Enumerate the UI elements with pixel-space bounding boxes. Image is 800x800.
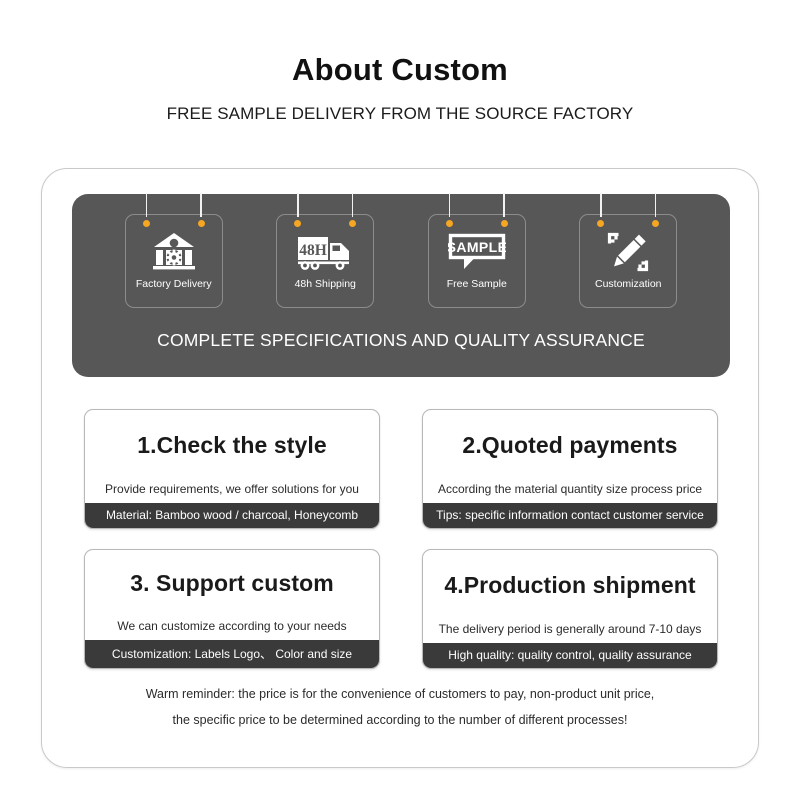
hanger-dot-right-icon [501,220,508,227]
step-footer-bar: Tips: specific information contact custo… [423,503,717,528]
sample-speech-bubble-icon: SAMPLE [448,229,506,275]
feature-badge-free-sample[interactable]: SAMPLE Free Sample [428,214,526,308]
step-card-3[interactable]: 3. Support custom We can customize accor… [84,549,380,669]
step-description: The delivery period is generally around … [423,622,717,643]
hanger-dot-right-icon [652,220,659,227]
step-footer-bar: Customization: Labels Logo、 Color and si… [85,640,379,668]
hanger-dot-left-icon [597,220,604,227]
step-description: Provide requirements, we offer solutions… [85,482,379,503]
hanger-dot-left-icon [446,220,453,227]
content-container: Factory Delivery 48H [41,168,759,768]
hanger-dot-right-icon [349,220,356,227]
feature-badge-label: Free Sample [447,279,507,291]
step-footer-bar: High quality: quality control, quality a… [423,643,717,668]
step-footer-bar: Material: Bamboo wood / charcoal, Honeyc… [85,503,379,528]
hanger-dot-left-icon [143,220,150,227]
feature-badge-factory-delivery[interactable]: Factory Delivery [125,214,223,308]
hanger-dot-right-icon [198,220,205,227]
step-card-2[interactable]: 2.Quoted payments According the material… [422,409,718,529]
warm-reminder-note: Warm reminder: the price is for the conv… [42,682,758,733]
step-card-grid: 1.Check the style Provide requirements, … [84,409,718,669]
svg-text:48H: 48H [299,242,327,259]
feature-badge-48h-shipping[interactable]: 48H 48h Shipping [276,214,374,308]
page-title: About Custom [0,52,800,88]
step-description: We can customize according to your needs [85,619,379,640]
note-line-2: the specific price to be determined acco… [42,708,758,734]
banner-caption: COMPLETE SPECIFICATIONS AND QUALITY ASSU… [72,330,730,351]
svg-text:SAMPLE: SAMPLE [448,239,506,255]
step-title: 2.Quoted payments [423,410,717,482]
step-title: 3. Support custom [85,550,379,619]
step-title: 4.Production shipment [423,550,717,622]
step-card-1[interactable]: 1.Check the style Provide requirements, … [84,409,380,529]
feature-badge-label: 48h Shipping [295,279,356,291]
feature-badge-list: Factory Delivery 48H [72,194,730,314]
step-description: According the material quantity size pro… [423,482,717,503]
note-line-1: Warm reminder: the price is for the conv… [42,682,758,708]
pencil-ruler-icon [605,229,651,275]
delivery-truck-48h-icon: 48H [297,229,353,275]
page-subtitle: FREE SAMPLE DELIVERY FROM THE SOURCE FAC… [0,104,800,124]
page-header: About Custom FREE SAMPLE DELIVERY FROM T… [0,0,800,124]
step-title: 1.Check the style [85,410,379,482]
feature-badge-label: Factory Delivery [136,279,212,291]
feature-badge-label: Customization [595,279,662,291]
feature-badge-customization[interactable]: Customization [579,214,677,308]
about-custom-page: About Custom FREE SAMPLE DELIVERY FROM T… [0,0,800,800]
factory-building-icon [151,229,197,275]
hanger-dot-left-icon [294,220,301,227]
features-banner: Factory Delivery 48H [72,194,730,377]
step-card-4[interactable]: 4.Production shipment The delivery perio… [422,549,718,669]
